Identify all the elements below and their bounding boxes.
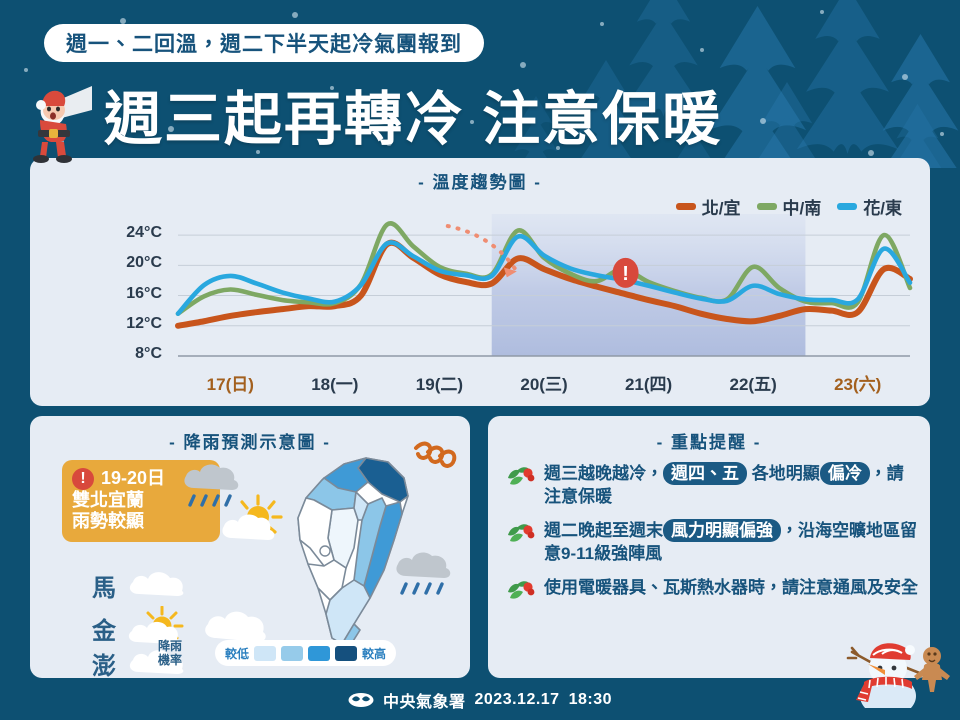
snow-dot xyxy=(820,10,824,14)
rain-legend-low: 較低 xyxy=(225,645,249,662)
snow-dot xyxy=(24,68,28,72)
header-banner: 週一、二回溫，週二下半天起冷氣團報到 週三起再轉冷 注意保暖 xyxy=(0,0,960,168)
reminders-panel-title: - 重點提醒 - xyxy=(488,428,930,453)
rain-legend-label: 降雨 機率 xyxy=(158,640,182,668)
subtitle-text: 週一、二回溫，週二下半天起冷氣團報到 xyxy=(66,28,462,58)
reminder-item: 週三越晚越冷，週四、五 各地明顯偏冷，請注意保暖 xyxy=(506,462,918,509)
rain-probability-swatch xyxy=(281,646,303,661)
rain-probability-legend: 較低 較高 xyxy=(215,640,396,666)
reminder-text: 週三越晚越冷，週四、五 各地明顯偏冷，請注意保暖 xyxy=(544,462,918,509)
legend-item-中/南: 中/南 xyxy=(757,194,822,219)
footer-time: 18:30 xyxy=(569,691,612,709)
island-forecast-row: 馬 xyxy=(92,568,186,603)
snow-dot xyxy=(868,150,874,156)
rain-probability-swatch xyxy=(308,646,330,661)
footer: 中央氣象署 2023.12.17 18:30 xyxy=(0,680,960,720)
x-axis-tick-label: 17(日) xyxy=(175,370,285,395)
legend-color-swatch xyxy=(676,203,696,210)
rain-legend-label-line2: 機率 xyxy=(158,654,182,668)
legend-item-北/宜: 北/宜 xyxy=(676,194,741,219)
legend-label: 中/南 xyxy=(783,194,822,219)
reminder-text: 使用電暖器具、瓦斯熱水器時，請注意通風及安全 xyxy=(544,576,918,609)
y-axis-tick-label: 12°C xyxy=(92,315,162,333)
reminder-highlight: 偏冷 xyxy=(820,462,870,485)
reminder-highlight: 週四、五 xyxy=(663,462,747,485)
legend-label: 北/宜 xyxy=(702,194,741,219)
wind-swirl-icon xyxy=(410,438,458,472)
cwa-swallow-logo-icon xyxy=(348,691,374,709)
x-axis-tick-label: 18(一) xyxy=(280,370,390,395)
snow-dot xyxy=(600,22,604,26)
warning-exclamation-glyph: ! xyxy=(622,263,629,285)
callout-line-3: 雨勢較顯 xyxy=(72,511,210,532)
reminder-item: 週二晚起至週末風力明顯偏強，沿海空曠地區留意9-11級強陣風 xyxy=(506,519,918,566)
island-name: 澎 xyxy=(92,646,116,678)
reminder-item: 使用電暖器具、瓦斯熱水器時，請注意通風及安全 xyxy=(506,576,918,609)
y-axis-tick-label: 24°C xyxy=(92,224,162,242)
footer-agency: 中央氣象署 xyxy=(383,688,466,712)
x-axis-tick-label: 21(四) xyxy=(594,370,704,395)
rain-legend-high: 較高 xyxy=(362,645,386,662)
warning-icon: ! xyxy=(72,468,94,490)
rain-legend-swatches xyxy=(254,646,357,661)
holly-icon xyxy=(506,576,536,609)
rain-cloud-icon xyxy=(388,546,460,602)
legend-color-swatch xyxy=(757,203,777,210)
snowman-icon xyxy=(830,622,950,708)
x-axis-tick-label: 22(五) xyxy=(698,370,808,395)
christmas-tree-icon xyxy=(742,82,832,168)
reminder-plain-text: 週二晚起至週末 xyxy=(544,521,663,540)
legend-label: 花/東 xyxy=(863,194,902,219)
x-axis-tick-label: 23(六) xyxy=(803,370,913,395)
rain-probability-swatch xyxy=(335,646,357,661)
island-name: 馬 xyxy=(92,568,116,603)
snow-dot xyxy=(760,118,766,124)
chart-legend: 北/宜中/南花/東 xyxy=(676,194,902,219)
gingerbread-man-icon xyxy=(914,647,950,692)
holly-icon xyxy=(506,464,536,490)
temperature-trend-panel: - 溫度趨勢圖 - 北/宜中/南花/東 ! 8°C12°C16°C20°C24°… xyxy=(30,158,930,406)
reminder-plain-text: 各地明顯 xyxy=(747,464,820,483)
legend-item-花/東: 花/東 xyxy=(837,194,902,219)
subtitle-pill: 週一、二回溫，週二下半天起冷氣團報到 xyxy=(44,24,484,62)
y-axis-tick-label: 16°C xyxy=(92,285,162,303)
reminders-list: 週三越晚越冷，週四、五 各地明顯偏冷，請注意保暖週二晚起至週末風力明顯偏強，沿海… xyxy=(506,462,918,619)
x-axis-tick-label: 20(三) xyxy=(489,370,599,395)
legend-color-swatch xyxy=(837,203,857,210)
holly-icon xyxy=(506,578,536,604)
snow-dot xyxy=(520,62,526,68)
snow-dot xyxy=(292,12,298,18)
snow-dot xyxy=(940,132,944,136)
callout-line-1: 19-20日 xyxy=(101,468,165,489)
holly-icon xyxy=(506,521,536,547)
reminder-text: 週二晚起至週末風力明顯偏強，沿海空曠地區留意9-11級強陣風 xyxy=(544,519,918,566)
y-axis-tick-label: 8°C xyxy=(92,345,162,363)
chart-warning-badge: ! xyxy=(613,258,639,288)
holly-icon xyxy=(506,462,536,509)
footer-date: 2023.12.17 xyxy=(475,691,560,709)
reminder-plain-text: 週三越晚越冷， xyxy=(544,464,663,483)
x-axis-tick-label: 19(二) xyxy=(384,370,494,395)
santa-megaphone-icon xyxy=(18,80,114,166)
reminder-highlight: 風力明顯偏強 xyxy=(663,519,781,542)
holly-icon xyxy=(506,519,536,566)
rainfall-forecast-panel: - 降雨預測示意圖 - ! 19-20日 雙北宜蘭 雨勢較顯 馬金澎 xyxy=(30,416,470,678)
island-name: 金 xyxy=(92,611,116,646)
snow-dot xyxy=(902,74,908,80)
cloud-icon xyxy=(126,568,186,603)
snow-dot xyxy=(700,48,704,52)
page-title: 週三起再轉冷 注意保暖 xyxy=(104,72,722,156)
reminder-plain-text: 使用電暖器具、瓦斯熱水器時，請注意通風及安全 xyxy=(544,578,918,597)
sun-behind-cloud-icon xyxy=(218,492,288,550)
rain-probability-swatch xyxy=(254,646,276,661)
y-axis-tick-label: 20°C xyxy=(92,254,162,272)
